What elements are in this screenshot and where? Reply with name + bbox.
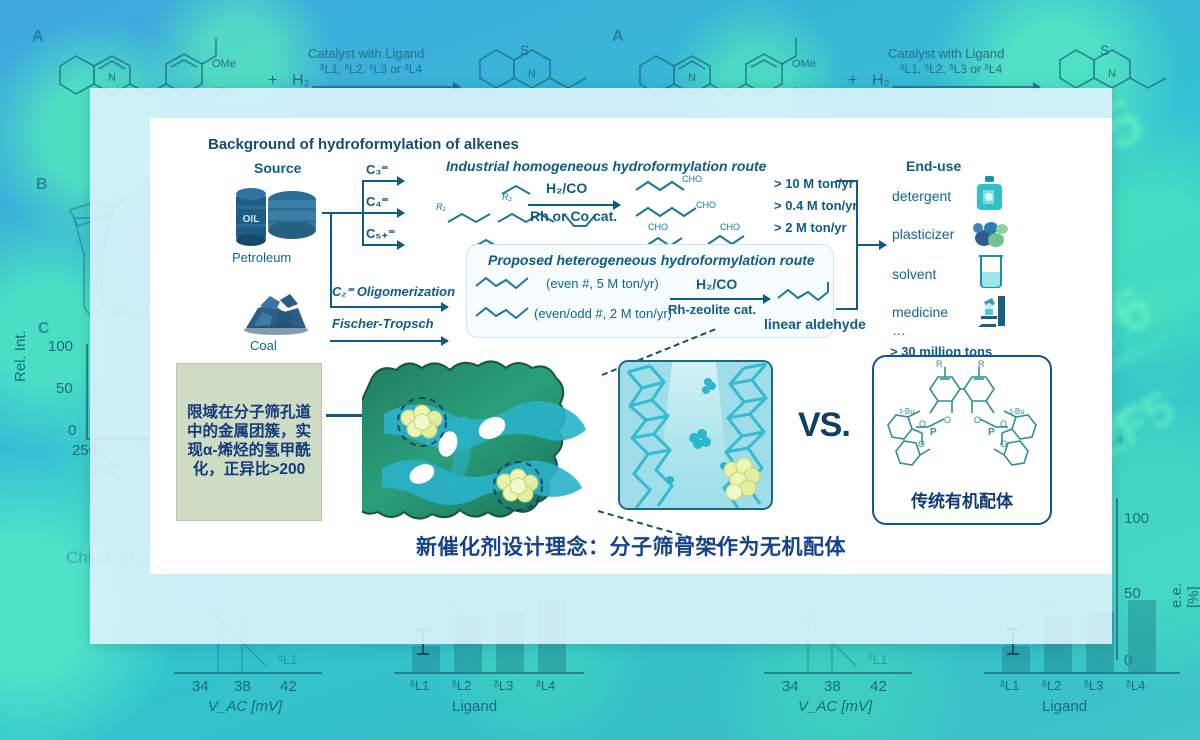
end-use-solvent: solvent [892, 266, 936, 282]
end-use-heading: End-use [906, 158, 961, 174]
ligand-label-o1: O [919, 419, 926, 429]
industrial-conditions-top: H₂/CO [546, 180, 587, 196]
bottom-caption: 新催化剂设计理念：分子筛骨架作为无机配体 [150, 531, 1112, 561]
end-use-ellipsis: … [892, 322, 906, 338]
linear-aldehyde-label: linear aldehyde [764, 316, 866, 332]
feed-note-1: (even #, 5 M ton/yr) [546, 276, 659, 291]
ligand-label-o5: O [918, 439, 925, 449]
background-panel-label-b: B [36, 176, 48, 194]
yield-1: > 10 M ton/yr [774, 176, 854, 191]
yield-2: > 0.4 M ton/yr [774, 198, 857, 213]
ligand-label-tbu2: t-Bu [1010, 407, 1025, 416]
ligand-label-o2: O [944, 415, 951, 425]
plasticizer-icon [972, 216, 1010, 250]
diagram-title: Background of hydroformylation of alkene… [208, 136, 519, 153]
graphical-abstract-panel: Background of hydroformylation of alkene… [150, 118, 1112, 574]
traditional-ligand-caption: 传统有机配体 [874, 487, 1050, 512]
yield-3: > 2 M ton/yr [774, 220, 847, 235]
cho-label-4: CHO [720, 222, 740, 232]
ligand-label-r2: R [978, 359, 985, 369]
source-heading: Source [254, 160, 301, 176]
beaker-icon [978, 254, 1004, 288]
ligand-label-tbu1: t-Bu [900, 407, 915, 416]
coal-pile-icon [236, 278, 312, 336]
label-r2: R₂ [502, 192, 512, 202]
linear-aldehyde-structure [776, 276, 838, 314]
source-coal-label: Coal [250, 338, 277, 353]
label-r1: R₁ [436, 202, 445, 212]
ligand-label-p2: P [988, 427, 995, 438]
path-fischer-tropsch: Fischer-Tropsch [332, 316, 434, 331]
zeolite-framework-illustration [362, 356, 612, 541]
industrial-conditions-bottom: Rh or Co cat. [530, 208, 617, 224]
vs-label: VS. [798, 406, 850, 445]
oil-drum-icon: OIL [232, 180, 318, 246]
end-use-plasticizer: plasticizer [892, 226, 954, 242]
proposed-conditions-bottom: Rh-zeolite cat. [668, 302, 756, 317]
path-oligomerization: C₂⁼ Oligomerization [332, 284, 455, 300]
svg-text:OIL: OIL [243, 214, 260, 225]
microscope-icon [974, 294, 1008, 328]
branch-c4: C₄⁼ [366, 194, 388, 210]
branch-c5: C₅₊⁼ [366, 226, 395, 242]
ligand-label-o3: O [974, 415, 981, 425]
traditional-ligand-box: R R t-Bu t-Bu O O O O O O P P 传统有机配体 [872, 355, 1052, 525]
proposed-conditions-top: H₂/CO [696, 276, 737, 292]
highlight-callout-text: 限域在分子筛孔道中的金属团簇，实现α-烯烃的氢甲酰化，正异比>200 [183, 404, 315, 480]
end-use-detergent: detergent [892, 188, 951, 204]
cho-label-1: CHO [682, 174, 702, 184]
ligand-label-r1: R [936, 359, 943, 369]
cho-label-2: CHO [696, 200, 716, 210]
branch-c3: C₃⁼ [366, 162, 388, 178]
cho-label-3: CHO [648, 222, 668, 232]
proposed-feed-structures [472, 272, 542, 330]
feed-note-2: (even/odd #, 2 M ton/yr) [534, 306, 672, 321]
ligand-label-o4: O [1000, 419, 1007, 429]
proposed-route-heading: Proposed heterogeneous hydroformylation … [488, 252, 815, 268]
highlight-callout-box: 限域在分子筛孔道中的金属团簇，实现α-烯烃的氢甲酰化，正异比>200 [176, 363, 322, 521]
ligand-label-o6: O [1000, 439, 1007, 449]
end-use-medicine: medicine [892, 304, 948, 320]
detergent-bottle-icon [976, 176, 1004, 212]
source-petroleum-label: Petroleum [232, 250, 291, 265]
biphosphite-structure [874, 363, 1050, 489]
ligand-label-p1: P [930, 427, 937, 438]
zeolite-pore-inset [618, 360, 773, 510]
